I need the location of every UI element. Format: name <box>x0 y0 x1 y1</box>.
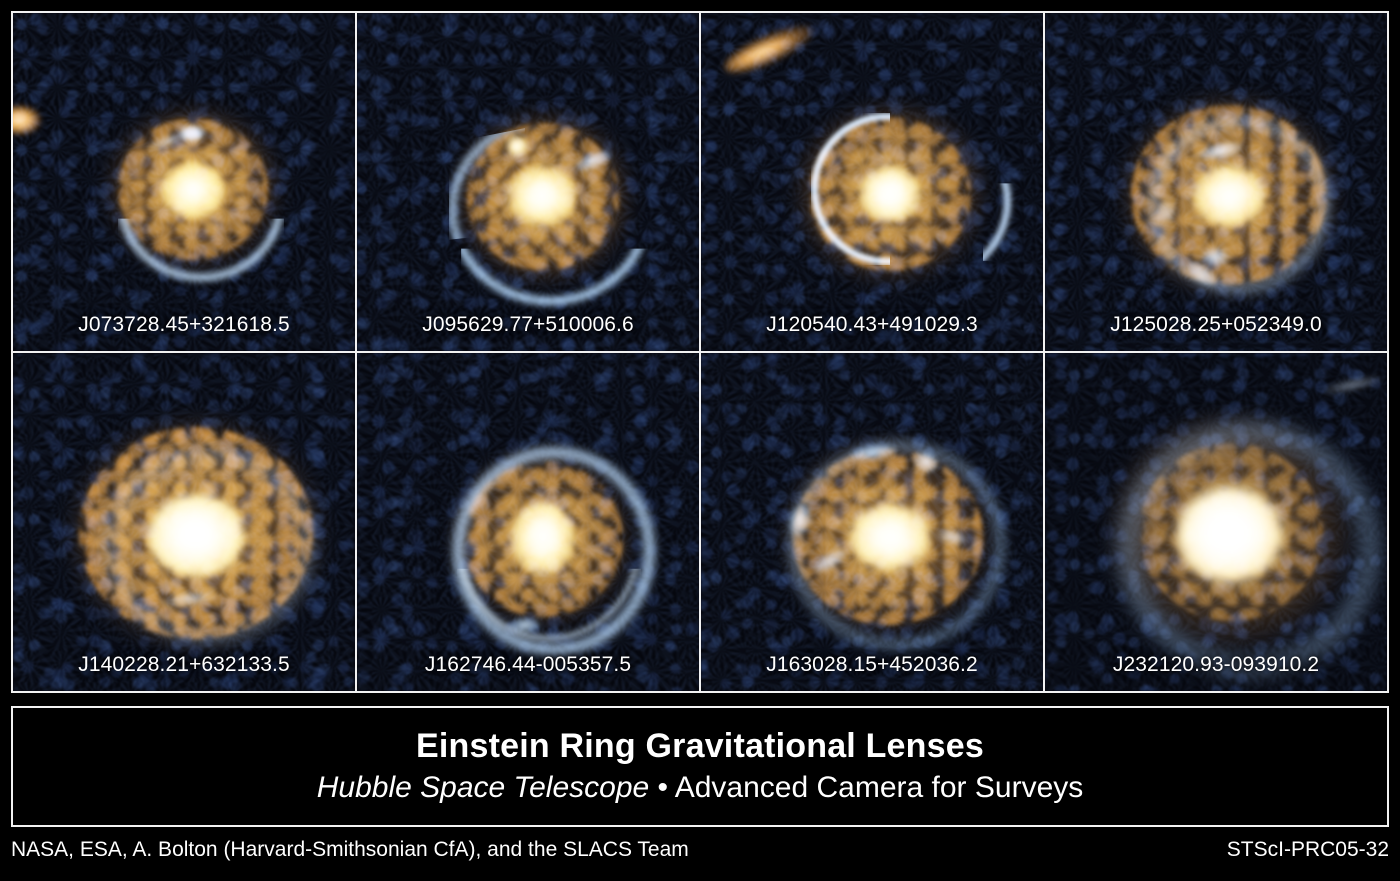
page-title: Einstein Ring Gravitational Lenses <box>416 728 984 765</box>
lens-panel-7[interactable]: J163028.15+452036.2 <box>701 353 1043 691</box>
lens-core <box>1193 165 1265 227</box>
lens-core <box>161 161 225 219</box>
lens-panel-6-label: J162746.44-005357.5 <box>357 653 699 677</box>
lens-panel-5[interactable]: J140228.21+632133.5 <box>13 353 355 691</box>
lensed-knot-left <box>1155 199 1177 225</box>
release-id: STScI-PRC05-32 <box>1227 838 1389 862</box>
lens-panel-7-label: J163028.15+452036.2 <box>701 653 1043 677</box>
lens-panel-1[interactable]: J073728.45+321618.5 <box>13 13 355 351</box>
lens-panel-6[interactable]: J162746.44-005357.5 <box>357 353 699 691</box>
lens-core <box>849 503 931 571</box>
lens-panel-3-label: J120540.43+491029.3 <box>701 313 1043 337</box>
lens-core <box>1177 487 1283 583</box>
lens-panel-5-label: J140228.21+632133.5 <box>13 653 355 677</box>
image-mosaic-grid: J073728.45+321618.5 J095629.77+510006.6 <box>11 11 1389 693</box>
page-subtitle: Hubble Space Telescope • Advanced Camera… <box>317 771 1084 806</box>
credit-text: NASA, ESA, A. Bolton (Harvard-Smithsonia… <box>11 838 689 862</box>
subtitle-camera-name: Advanced Camera for Surveys <box>675 771 1084 804</box>
credit-row: NASA, ESA, A. Bolton (Harvard-Smithsonia… <box>11 838 1389 862</box>
lens-panel-8-label: J232120.93-093910.2 <box>1045 653 1387 677</box>
title-box: Einstein Ring Gravitational Lenses Hubbl… <box>11 706 1389 827</box>
lensed-knot-bottom-a <box>1201 247 1229 267</box>
subtitle-instrument-name: Hubble Space Telescope <box>317 771 649 804</box>
lens-panel-4[interactable]: J125028.25+052349.0 <box>1045 13 1387 351</box>
lens-panel-8[interactable]: J232120.93-093910.2 <box>1045 353 1387 691</box>
lens-core <box>149 495 245 577</box>
lens-core <box>511 503 575 575</box>
lens-panel-3[interactable]: J120540.43+491029.3 <box>701 13 1043 351</box>
lens-panel-2[interactable]: J095629.77+510006.6 <box>357 13 699 351</box>
lens-panel-2-label: J095629.77+510006.6 <box>357 313 699 337</box>
lens-panel-4-label: J125028.25+052349.0 <box>1045 313 1387 337</box>
lensed-knot-bottom <box>509 617 541 633</box>
subtitle-separator: • <box>649 771 675 804</box>
lens-panel-1-label: J073728.45+321618.5 <box>13 313 355 337</box>
poster-root: J073728.45+321618.5 J095629.77+510006.6 <box>0 0 1400 881</box>
